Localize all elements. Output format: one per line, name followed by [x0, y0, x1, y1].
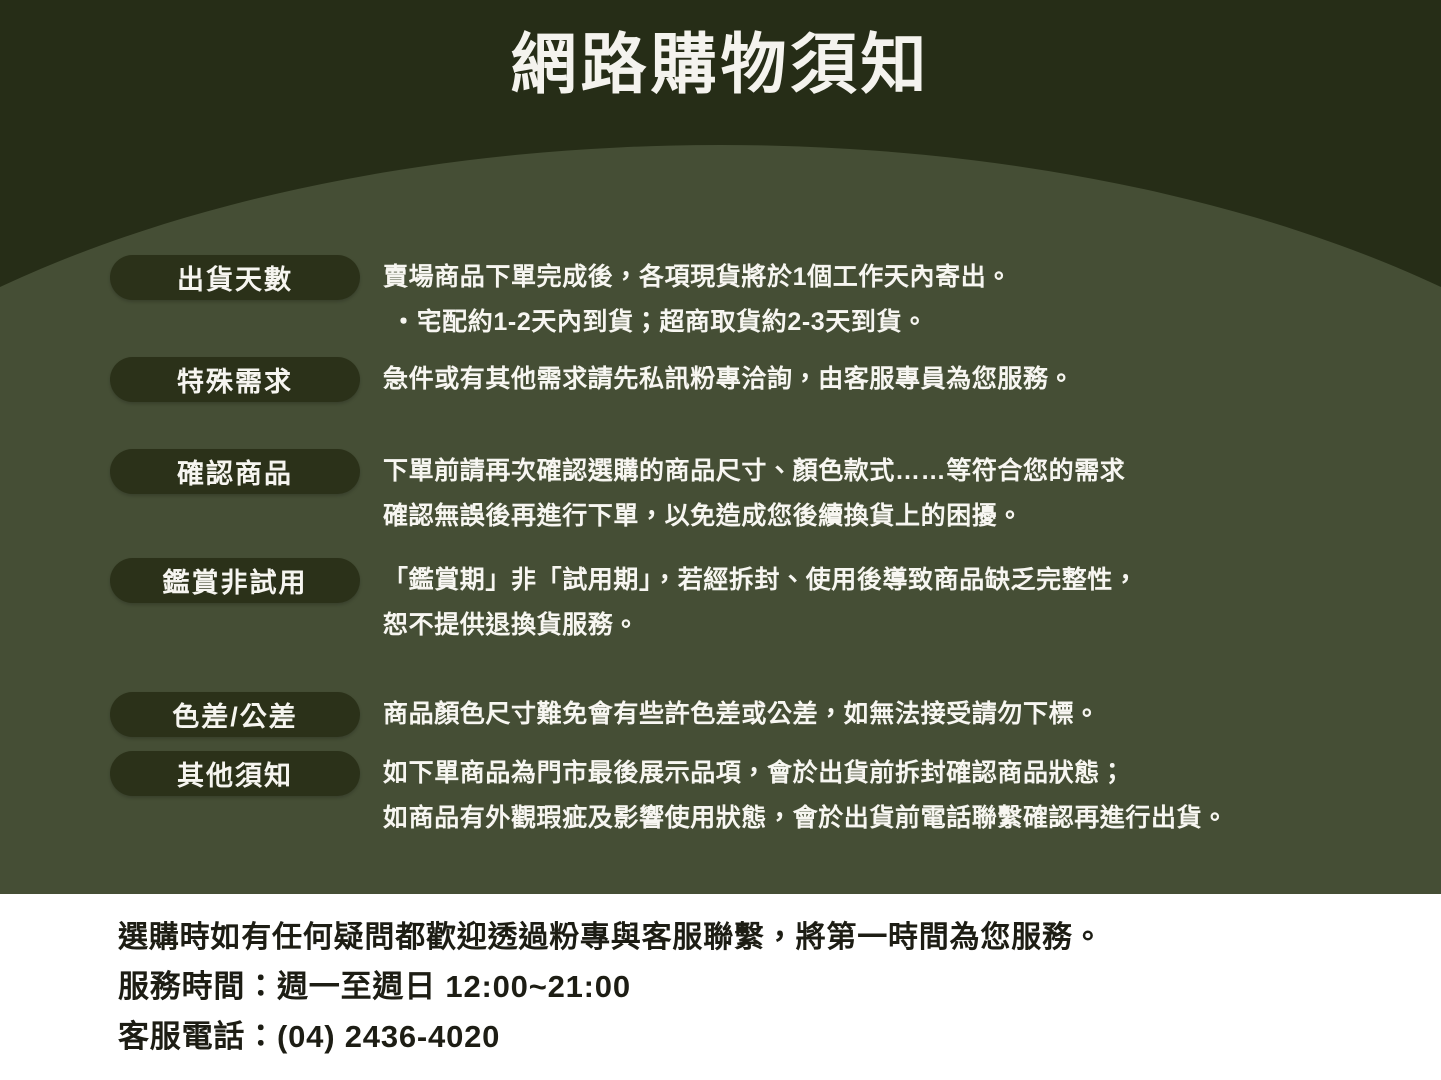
- notice-label-color-tolerance: 色差/公差: [110, 692, 360, 737]
- notice-label-other-notes: 其他須知: [110, 751, 360, 796]
- notice-body-line: ・宅配約1-2天內到貨；超商取貨約2-3天到貨。: [383, 300, 1433, 345]
- notice-label-shipping-days: 出貨天數: [110, 255, 360, 300]
- notice-body-line: 「鑑賞期」非「試用期」，若經拆封、使用後導致商品缺乏完整性，: [383, 558, 1433, 603]
- notice-body-special-request: 急件或有其他需求請先私訊粉專洽詢，由客服專員為您服務。: [383, 357, 1433, 402]
- hero-panel: 網路購物須知 出貨天數 賣場商品下單完成後，各項現貨將於1個工作天內寄出。 ・宅…: [0, 0, 1441, 894]
- contact-footer-inner: 選購時如有任何疑問都歡迎透過粉專與客服聯繫，將第一時間為您服務。 服務時間：週一…: [118, 913, 1418, 1062]
- notice-body-line: 確認無誤後再進行下單，以免造成您後續換貨上的困擾。: [383, 494, 1433, 539]
- notice-body-line: 商品顏色尺寸難免會有些許色差或公差，如無法接受請勿下標。: [383, 692, 1433, 737]
- notice-label-inspection-not-trial: 鑑賞非試用: [110, 558, 360, 603]
- service-phone-text: 客服電話：(04) 2436-4020: [118, 1012, 1418, 1062]
- notice-body-inspection-not-trial: 「鑑賞期」非「試用期」，若經拆封、使用後導致商品缺乏完整性， 恕不提供退換貨服務…: [383, 558, 1433, 648]
- notice-body-line: 恕不提供退換貨服務。: [383, 603, 1433, 648]
- notice-body-shipping-days: 賣場商品下單完成後，各項現貨將於1個工作天內寄出。 ・宅配約1-2天內到貨；超商…: [383, 255, 1433, 345]
- notice-body-line: 如商品有外觀瑕疵及影響使用狀態，會於出貨前電話聯繫確認再進行出貨。: [383, 796, 1433, 841]
- notice-body-confirm-product: 下單前請再次確認選購的商品尺寸、顏色款式……等符合您的需求 確認無誤後再進行下單…: [383, 449, 1433, 539]
- notice-body-line: 如下單商品為門市最後展示品項，會於出貨前拆封確認商品狀態；: [383, 751, 1433, 796]
- contact-invite-text: 選購時如有任何疑問都歡迎透過粉專與客服聯繫，將第一時間為您服務。: [118, 913, 1418, 962]
- notice-body-line: 急件或有其他需求請先私訊粉專洽詢，由客服專員為您服務。: [383, 357, 1433, 402]
- poster-page: 網路購物須知 出貨天數 賣場商品下單完成後，各項現貨將於1個工作天內寄出。 ・宅…: [0, 0, 1441, 1080]
- notice-label-confirm-product: 確認商品: [110, 449, 360, 494]
- notice-body-line: 下單前請再次確認選購的商品尺寸、顏色款式……等符合您的需求: [383, 449, 1433, 494]
- notice-body-line: 賣場商品下單完成後，各項現貨將於1個工作天內寄出。: [383, 255, 1433, 300]
- notice-label-special-request: 特殊需求: [110, 357, 360, 402]
- contact-footer: 選購時如有任何疑問都歡迎透過粉專與客服聯繫，將第一時間為您服務。 服務時間：週一…: [0, 894, 1441, 1080]
- notice-body-color-tolerance: 商品顏色尺寸難免會有些許色差或公差，如無法接受請勿下標。: [383, 692, 1433, 737]
- notice-section-list: 出貨天數 賣場商品下單完成後，各項現貨將於1個工作天內寄出。 ・宅配約1-2天內…: [0, 0, 1441, 894]
- notice-body-other-notes: 如下單商品為門市最後展示品項，會於出貨前拆封確認商品狀態； 如商品有外觀瑕疵及影…: [383, 751, 1433, 841]
- service-hours-text: 服務時間：週一至週日 12:00~21:00: [118, 962, 1418, 1012]
